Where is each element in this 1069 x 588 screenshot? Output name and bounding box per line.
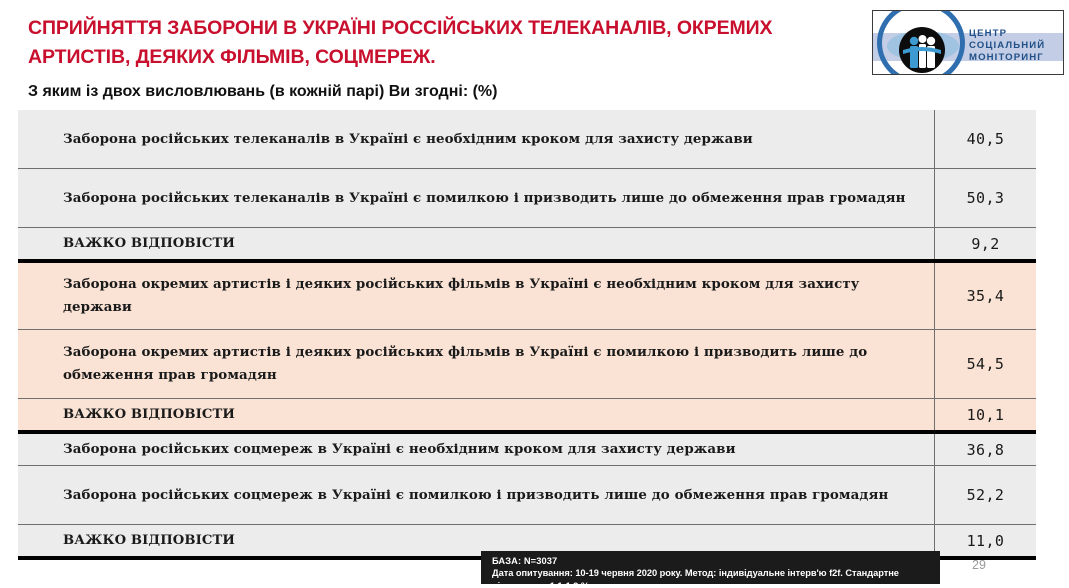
logo-line-2: СОЦІАЛЬНИЙ [969, 40, 1045, 52]
statement-value: 54,5 [935, 330, 1036, 398]
statement-value: 10,1 [935, 399, 1036, 430]
logo-line-3: МОНІТОРИНГ [969, 52, 1045, 64]
statement-label: Заборона російських соцмереж в Україні є… [18, 466, 935, 524]
note-base-line: БАЗА: N=3037 [492, 555, 940, 567]
statement-label: Заборона окремих артистів і деяких росій… [18, 330, 935, 398]
table-row: Заборона окремих артистів і деяких росій… [18, 263, 1036, 330]
statement-value: 40,5 [935, 110, 1036, 168]
statement-value: 52,2 [935, 466, 1036, 524]
statement-label: Заборона російських соцмереж в Україні є… [18, 434, 935, 465]
note-method-line: Дата опитування: 10-19 червня 2020 року.… [492, 567, 940, 588]
table-group-social-networks: Заборона російських соцмереж в Україні є… [18, 430, 1036, 560]
table-row: Заборона російських телеканалів в Україн… [18, 169, 1036, 228]
table-row: ВАЖКО ВІДПОВІСТИ 9,2 [18, 228, 1036, 259]
table-row: Заборона російських соцмереж в Україні є… [18, 466, 1036, 525]
organization-logo: ЦЕНТР СОЦІАЛЬНИЙ МОНІТОРИНГ [872, 10, 1064, 75]
table-row: Заборона окремих артистів і деяких росій… [18, 330, 1036, 399]
statement-value: 35,4 [935, 263, 1036, 329]
statement-label: Заборона російських телеканалів в Україн… [18, 169, 935, 227]
logo-people-icon [899, 27, 945, 73]
logo-wordmark: ЦЕНТР СОЦІАЛЬНИЙ МОНІТОРИНГ [969, 28, 1045, 65]
table-group-tv-channels: Заборона російських телеканалів в Україн… [18, 110, 1036, 259]
statement-label: Заборона російських телеканалів в Україн… [18, 110, 935, 168]
page-number: 29 [972, 558, 986, 572]
slide-root: СПРИЙНЯТТЯ ЗАБОРОНИ В УКРАЇНІ РОССІЙСЬКИ… [0, 0, 1069, 588]
statement-value: 50,3 [935, 169, 1036, 227]
statement-label: Заборона окремих артистів і деяких росій… [18, 263, 935, 329]
logo-line-1: ЦЕНТР [969, 28, 1045, 40]
statement-value: 11,0 [935, 525, 1036, 556]
table-group-artists-films: Заборона окремих артистів і деяких росій… [18, 259, 1036, 430]
page-title: СПРИЙНЯТТЯ ЗАБОРОНИ В УКРАЇНІ РОССІЙСЬКИ… [28, 14, 848, 72]
statement-label: ВАЖКО ВІДПОВІСТИ [18, 228, 935, 259]
statement-value: 9,2 [935, 228, 1036, 259]
statement-label: ВАЖКО ВІДПОВІСТИ [18, 399, 935, 430]
methodology-note: БАЗА: N=3037 Дата опитування: 10-19 черв… [481, 551, 940, 584]
table-row: Заборона російських телеканалів в Україн… [18, 110, 1036, 169]
page-subtitle: З яким із двох висловлювань (в кожній па… [28, 83, 728, 101]
table-row: Заборона російських соцмереж в Україні є… [18, 434, 1036, 466]
statement-value: 36,8 [935, 434, 1036, 465]
results-table: Заборона російських телеканалів в Україн… [18, 110, 1036, 560]
table-row: ВАЖКО ВІДПОВІСТИ 10,1 [18, 399, 1036, 430]
